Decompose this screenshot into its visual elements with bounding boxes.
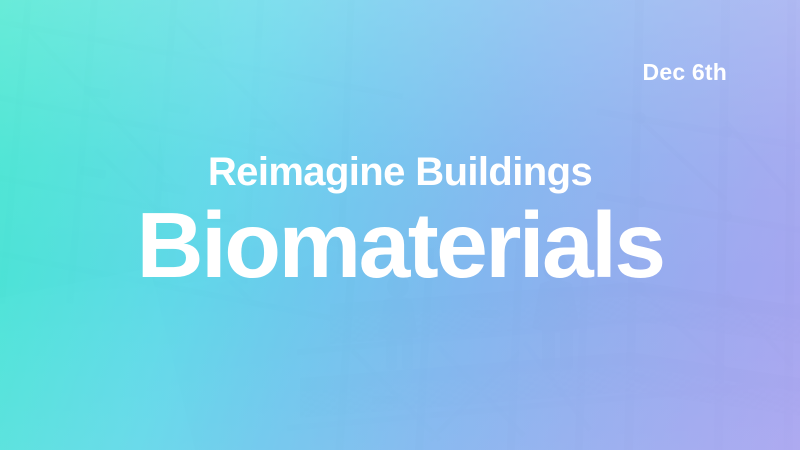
event-promo-banner: Dec 6th Reimagine Buildings Biomaterials (0, 0, 800, 450)
event-date: Dec 6th (0, 61, 727, 84)
banner-content: Dec 6th Reimagine Buildings Biomaterials (0, 0, 800, 450)
kicker-text: Reimagine Buildings (0, 152, 800, 192)
headline-block: Reimagine Buildings Biomaterials (0, 152, 800, 292)
headline-text: Biomaterials (0, 199, 800, 292)
